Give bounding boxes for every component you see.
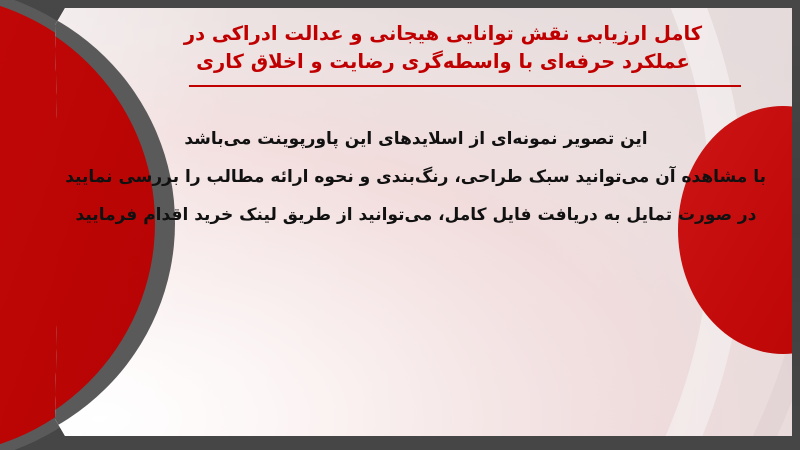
slide-title: کامل ارزیابی نقش توانایی هیجانی و عدالت … — [128, 20, 758, 76]
slide-content-panel: کامل ارزیابی نقش توانایی هیجانی و عدالت … — [55, 8, 792, 436]
title-line-2: عملکرد حرفه‌ای با واسطه‌گری رضایت و اخلا… — [128, 48, 758, 76]
body-line-1: این تصویر نمونه‌ای از اسلایدهای این پاور… — [66, 120, 766, 158]
title-underline-rule — [189, 85, 741, 87]
slide-body-text: این تصویر نمونه‌ای از اسلایدهای این پاور… — [66, 120, 766, 234]
body-line-2: با مشاهده آن می‌توانید سبک طراحی، رنگ‌بن… — [66, 158, 766, 196]
slide-content: کامل ارزیابی نقش توانایی هیجانی و عدالت … — [55, 8, 792, 436]
presentation-slide: کامل ارزیابی نقش توانایی هیجانی و عدالت … — [0, 0, 800, 450]
title-line-1: کامل ارزیابی نقش توانایی هیجانی و عدالت … — [128, 20, 758, 48]
body-line-3: در صورت تمایل به دریافت فایل کامل، می‌تو… — [66, 196, 766, 234]
